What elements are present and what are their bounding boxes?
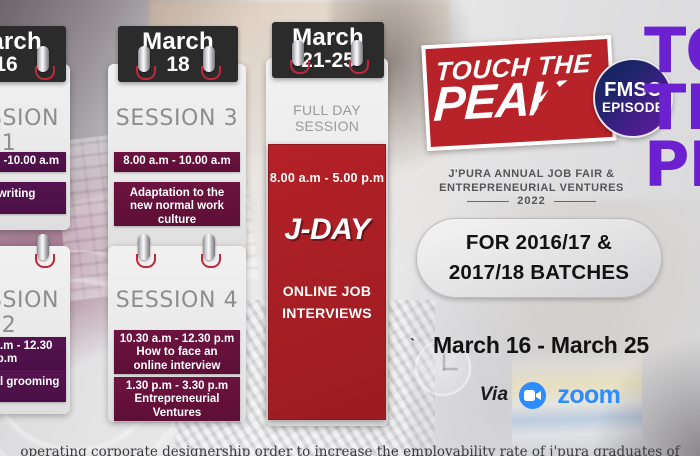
event-year: 2022 — [424, 195, 639, 207]
calendar-ring — [37, 46, 49, 72]
via-label: Via — [480, 384, 509, 406]
session-block-topic-2: Personal grooming — [0, 370, 66, 402]
poster-canvas: March 16 SESSION 1 8.00 a.m -10.00 a.m C… — [0, 0, 700, 456]
date-header-march-16: March 16 — [0, 26, 66, 82]
jday-sub-line-1: ONLINE JOB — [269, 281, 385, 303]
session-title-2: SESSION 2 — [0, 288, 70, 338]
session-time: 1.30 p.m - 3.30 p.m — [118, 380, 236, 393]
session-block-time-1: 8.00 a.m -10.00 a.m — [0, 152, 66, 172]
tagline-line-1: J'PURA ANNUAL JOB FAIR & — [424, 168, 639, 182]
tagline-line-2: ENTREPRENEURIAL VENTURES — [424, 182, 639, 196]
session-block-4a: 10.30 a.m - 12.30 p.m How to face an onl… — [114, 330, 240, 374]
zoom-wordmark: zoom — [557, 381, 620, 410]
jday-sub-line-2: INTERVIEWS — [269, 303, 385, 325]
session-topic: Personal grooming — [0, 376, 62, 389]
touch-the-peak-logo: TOUCH THE PEAK — [424, 40, 614, 146]
session-time: 8.00 a.m -10.00 a.m — [0, 155, 62, 168]
jday-subtitle: ONLINE JOB INTERVIEWS — [269, 281, 385, 324]
session-title-3: SESSION 3 — [108, 106, 246, 131]
session-topic: CV writing — [0, 188, 62, 201]
session-block-topic-1: CV writing — [0, 182, 66, 214]
session-time: 10.30 a.m - 12.30 p.m — [0, 340, 62, 367]
batches-line-1: FOR 2016/17 & — [466, 228, 612, 258]
session-block-time-2: 10.30 a.m - 12.30 p.m — [0, 337, 66, 371]
jday-time: 8.00 a.m - 5.00 p.m — [269, 171, 385, 185]
date-range-value: March 16 - March 25 — [433, 332, 649, 358]
session-title-1: SESSION 1 — [0, 106, 70, 156]
session-topic: How to face an online interview — [118, 346, 236, 373]
session-block-topic-3: Adaptation to the new normal work cultur… — [114, 182, 240, 226]
calendar-ring — [37, 234, 49, 260]
calendar-ring — [203, 46, 215, 72]
jday-panel: 8.00 a.m - 5.00 p.m J-DAY ONLINE JOB INT… — [268, 144, 386, 420]
event-tagline: J'PURA ANNUAL JOB FAIR & ENTREPRENEURIAL… — [424, 168, 639, 196]
calendar-ring — [203, 234, 215, 260]
session-time: 10.30 a.m - 12.30 p.m — [118, 333, 236, 346]
batches-line-2: 2017/18 BATCHES — [449, 258, 629, 288]
zoom-camera-icon — [519, 382, 546, 409]
rule-left — [467, 201, 509, 202]
date-header-month: March — [0, 30, 58, 54]
calendar-ring — [138, 234, 150, 260]
full-day-line-2: SESSION — [266, 119, 388, 135]
full-day-line-1: FULL DAY — [266, 103, 388, 119]
year-text: 2022 — [517, 195, 545, 207]
jday-title: J-DAY — [269, 213, 385, 247]
logo-red-plate: TOUCH THE PEAK — [421, 35, 617, 151]
calendar-ring — [292, 40, 304, 66]
session-block-4b: 1.30 p.m - 3.30 p.m Entrepreneurial Vent… — [114, 377, 240, 421]
date-range-text: ` March 16 - March 25 — [416, 332, 666, 359]
session-time: 8.00 a.m - 10.00 a.m — [118, 155, 236, 168]
calendar-ring — [138, 46, 150, 72]
peak-triangle-icon — [523, 78, 587, 127]
session-topic: Adaptation to the new normal work cultur… — [118, 187, 236, 227]
calendar-ring — [351, 40, 363, 66]
bottom-caption: operating corporate designership order t… — [0, 444, 700, 456]
edge-clipped-headline: TOUCH THE PEAK — [644, 22, 700, 193]
eligible-batches-pill: FOR 2016/17 & 2017/18 BATCHES — [416, 218, 662, 298]
full-day-session-label: FULL DAY SESSION — [266, 103, 388, 134]
rule-right — [554, 201, 596, 202]
edge-line-3: PEAK — [644, 136, 700, 193]
session-block-time-3: 8.00 a.m - 10.00 a.m — [114, 152, 240, 172]
session-topic: Entrepreneurial Ventures — [118, 393, 236, 420]
platform-row: Via zoom — [455, 378, 645, 412]
session-title-4: SESSION 4 — [108, 288, 246, 313]
quote-mark-icon: ` — [410, 336, 415, 353]
